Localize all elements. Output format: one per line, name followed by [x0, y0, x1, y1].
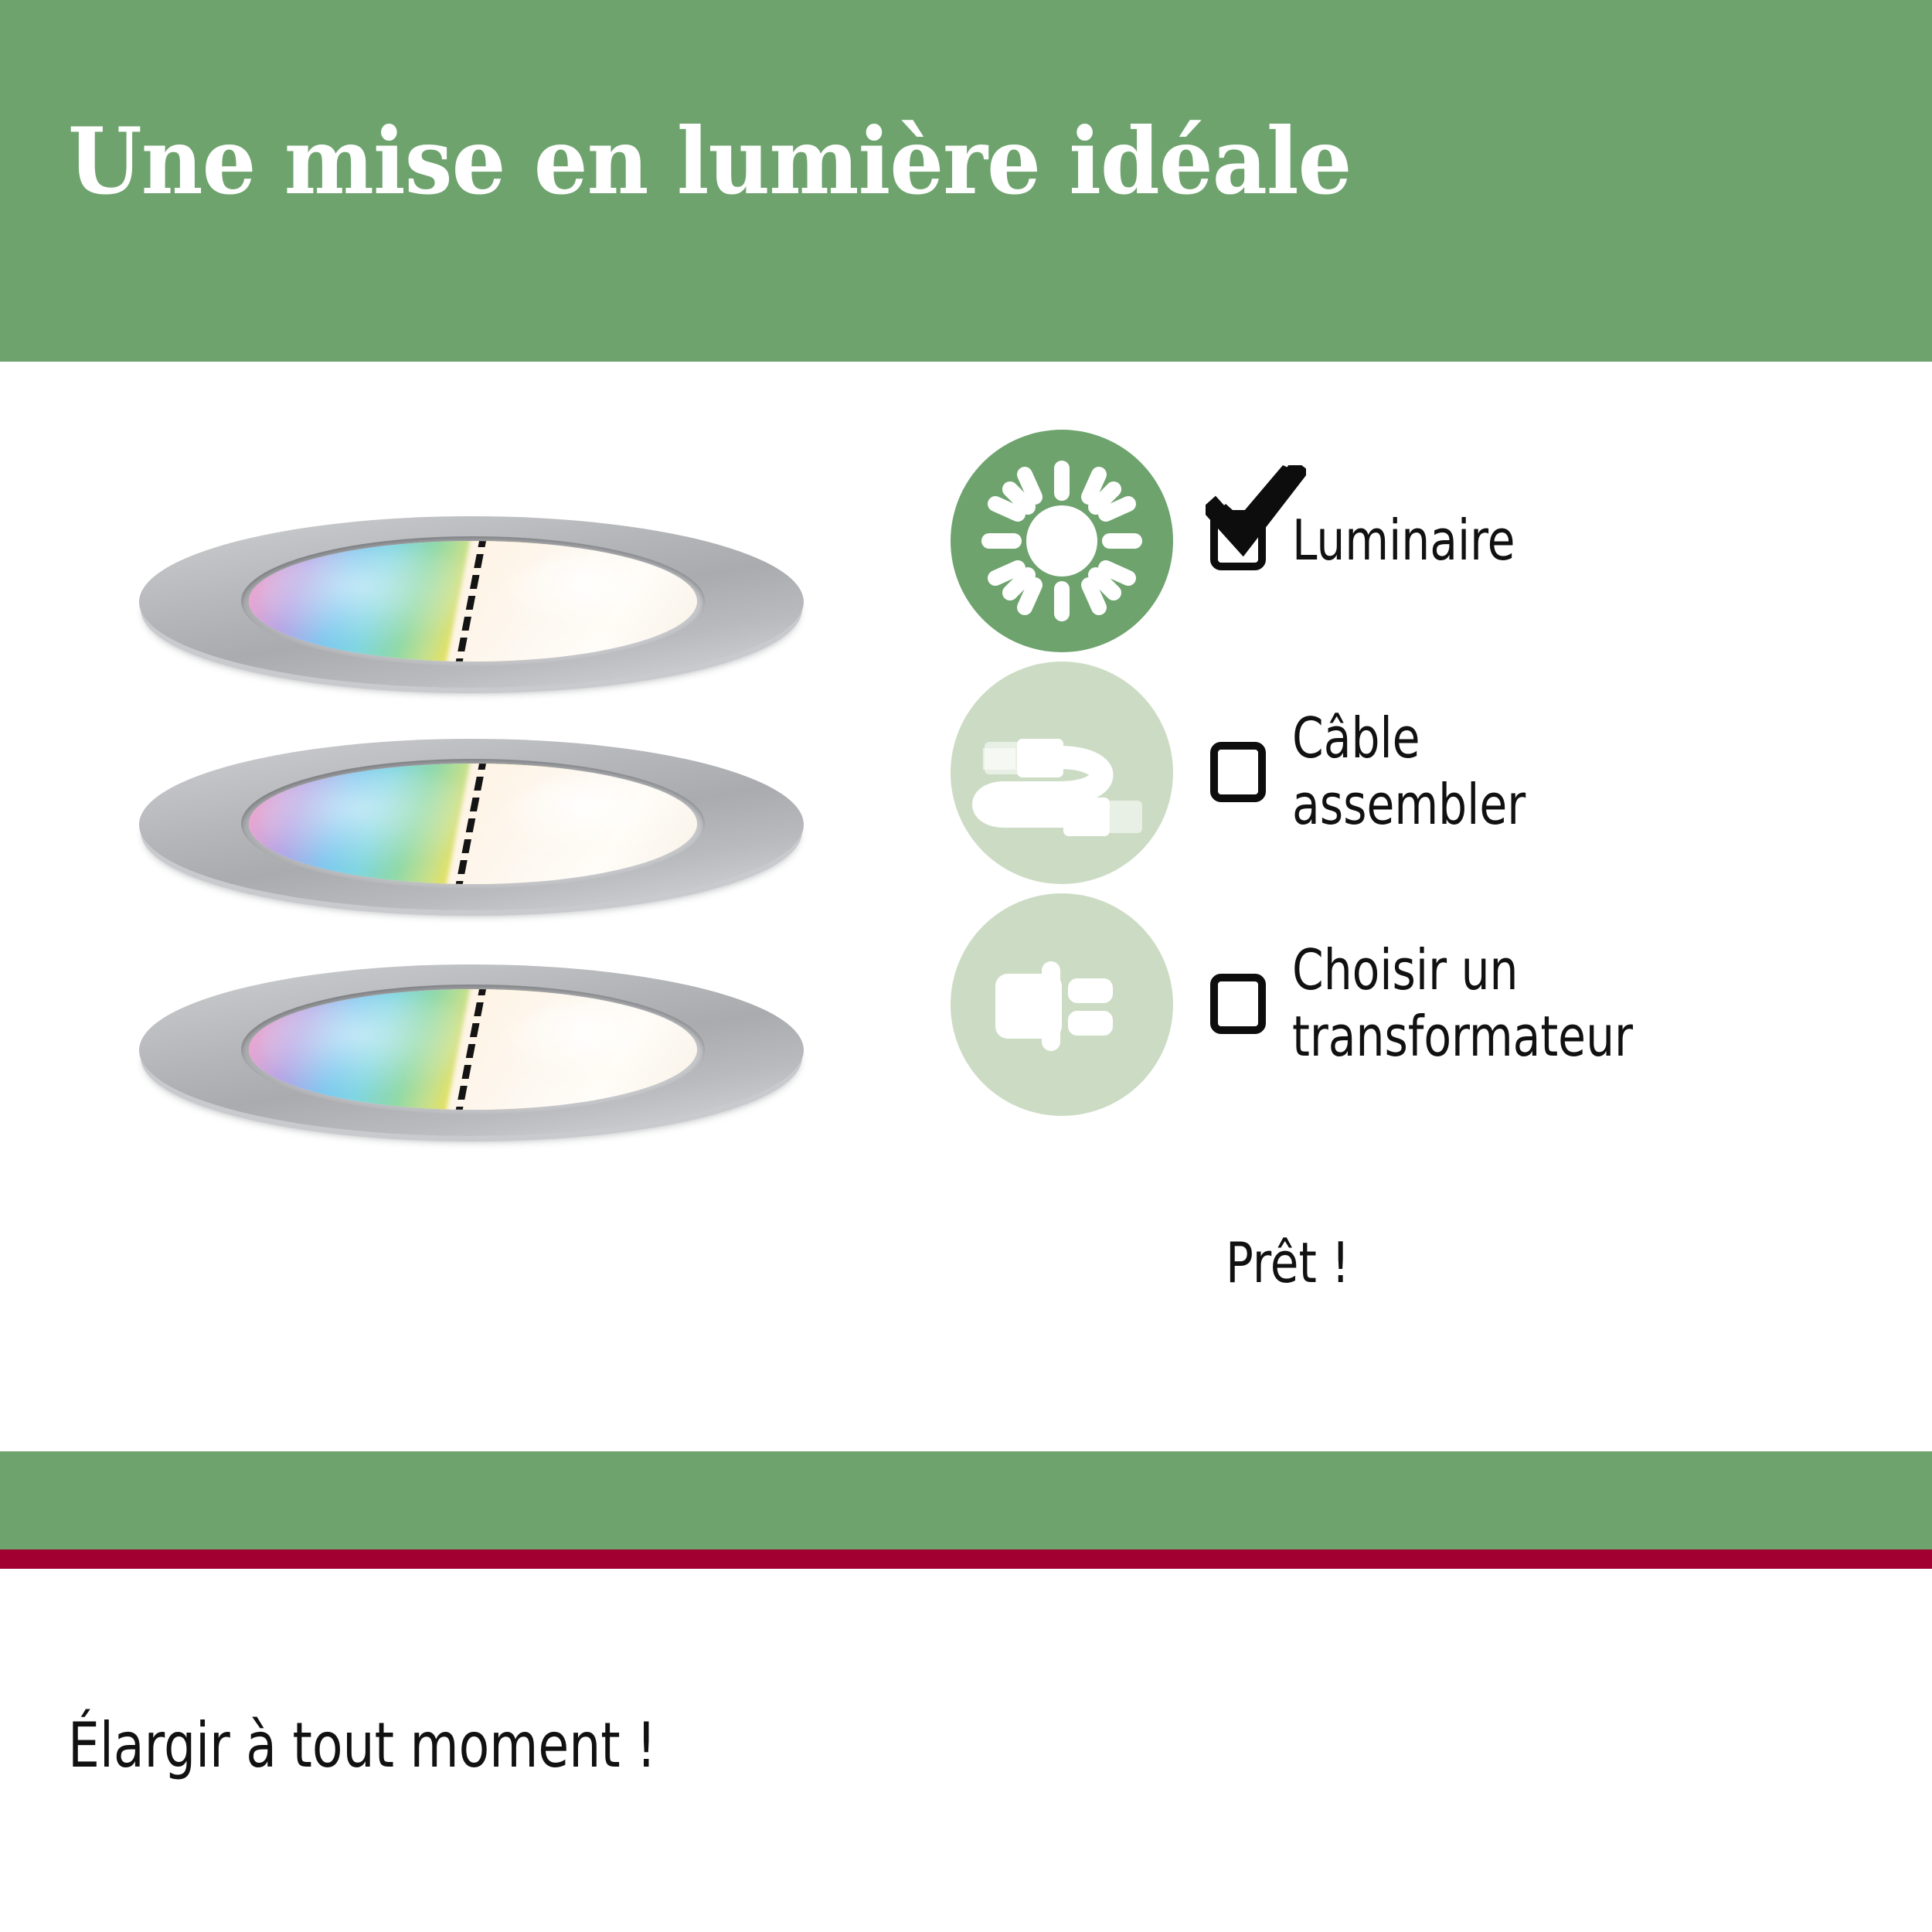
- checkbox-luminaire[interactable]: [1210, 510, 1266, 570]
- page-title: Une mise en lumière idéale: [68, 116, 1352, 207]
- checklist-item-cable[interactable]: Câble assembler: [951, 662, 1862, 893]
- lamp-lens: [249, 541, 697, 662]
- sun-icon: [951, 430, 1173, 652]
- checklist-label-cable: Câble assembler: [1292, 705, 1526, 838]
- footer-caption: Élargir à tout moment !: [68, 1709, 656, 1781]
- main-content-area: Luminaire Câble assembler: [0, 362, 1932, 1451]
- lens-warm-highlight: [504, 1002, 682, 1087]
- cable-icon: [951, 662, 1173, 884]
- lens-warm-highlight: [504, 776, 682, 861]
- footer-green-band: [0, 1451, 1932, 1549]
- plug-icon: [951, 893, 1173, 1116]
- lamp-lens: [249, 764, 697, 884]
- checklist-label-transformer: Choisir un transformateur: [1292, 937, 1633, 1070]
- lens-warm-highlight: [504, 553, 682, 638]
- product-image-group: [139, 516, 819, 1212]
- product-lamp-3: [139, 964, 804, 1158]
- lamp-lens: [249, 989, 697, 1110]
- checkbox-transformer[interactable]: [1210, 974, 1266, 1034]
- ready-status-text: Prêt !: [1226, 1230, 1350, 1295]
- setup-checklist: Luminaire Câble assembler: [951, 430, 1862, 1125]
- checklist-item-transformer[interactable]: Choisir un transformateur: [951, 893, 1862, 1125]
- footer-crimson-band: [0, 1549, 1932, 1569]
- checkbox-cable[interactable]: [1210, 742, 1266, 802]
- product-lamp-1: [139, 516, 804, 709]
- product-lamp-2: [139, 739, 804, 932]
- checklist-item-luminaire[interactable]: Luminaire: [951, 430, 1862, 662]
- checklist-label-luminaire: Luminaire: [1292, 507, 1515, 573]
